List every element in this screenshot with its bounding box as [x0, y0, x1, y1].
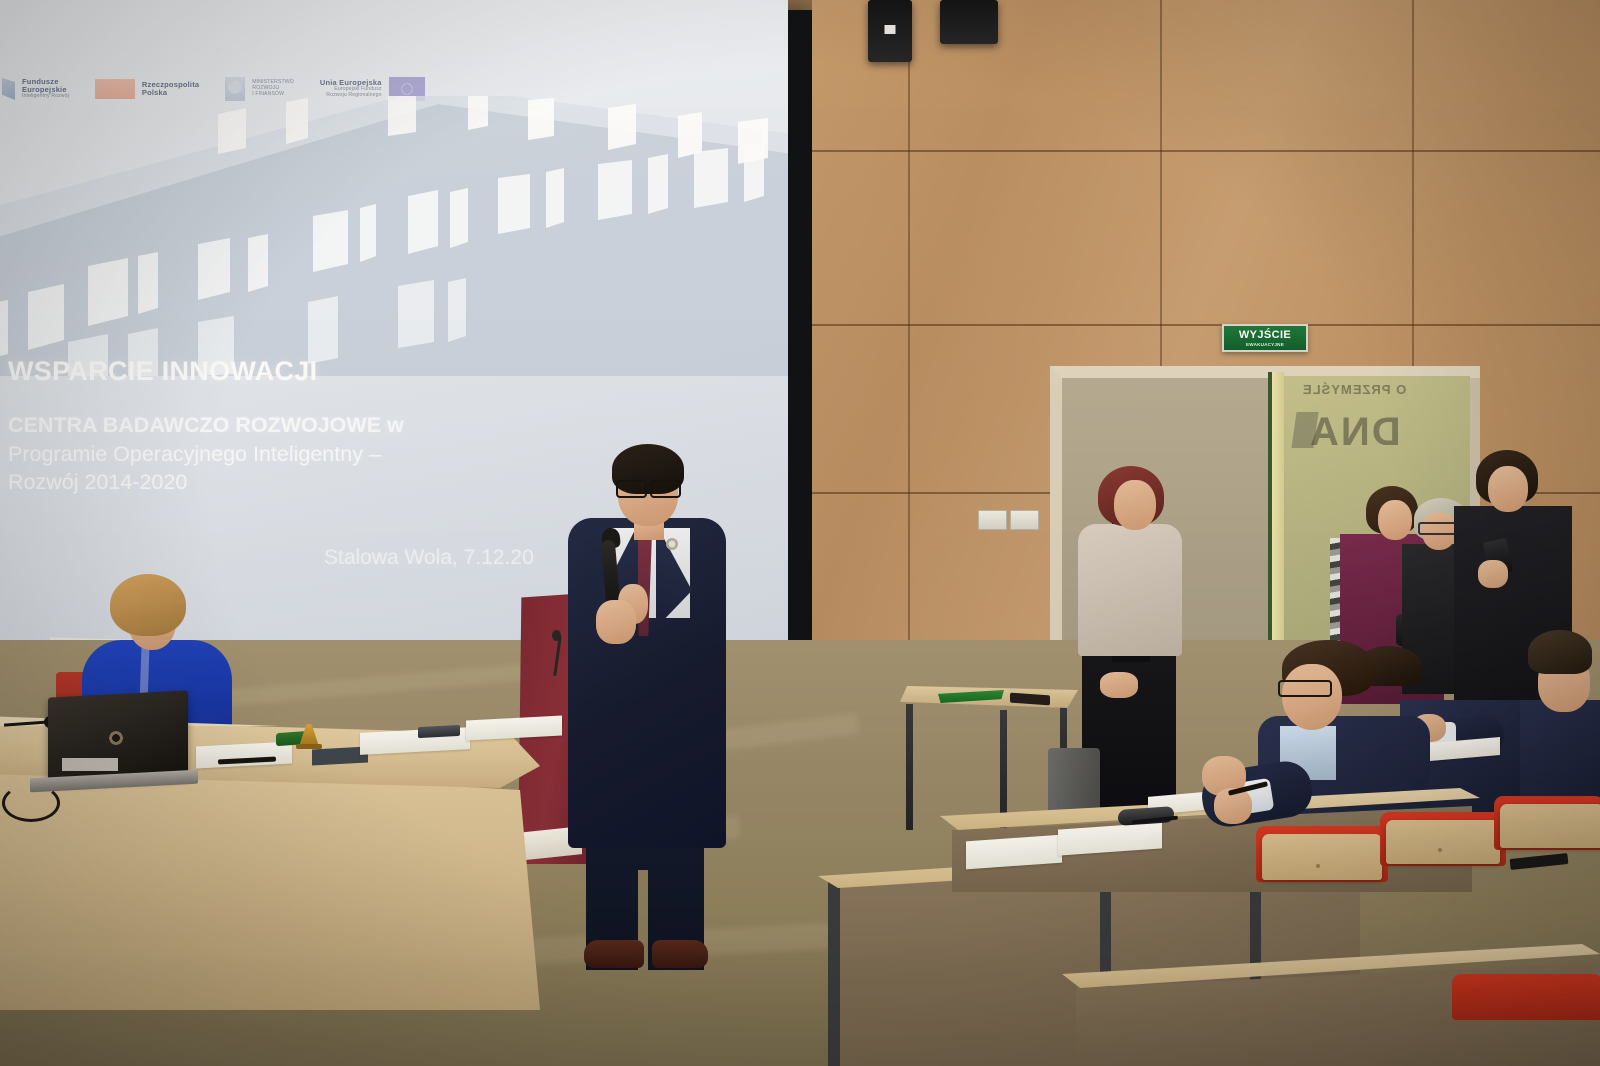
emergency-exit-sign: WYJŚCIE EWAKUACYJNE [1222, 324, 1308, 352]
standing-woman-face [1114, 480, 1156, 530]
chair-red-rim[interactable] [1452, 974, 1600, 1020]
eyeglasses-lens-left-icon [616, 480, 647, 498]
lecture-hall-photo: Fundusze Europejskie Inteligentny Rozwój… [0, 0, 1600, 1066]
chair-seatback[interactable] [1500, 804, 1600, 848]
slide-subtitle-line-1: CENTRA BADAWCZO ROZWOJOWE w [8, 411, 628, 440]
glass-door-large-text: DNA [1308, 410, 1401, 455]
front-seated-man-face [1282, 664, 1342, 730]
dell-logo-icon [108, 730, 124, 746]
slide-title: WSPARCIE INNOWACJI [8, 356, 628, 387]
standing-woman-blazer [1078, 524, 1182, 656]
chair-seatback[interactable] [1386, 820, 1500, 864]
side-table-leg-1 [906, 704, 913, 830]
slide-subtitle-line-2: Programie Operacyjnego Inteligentny – [8, 440, 628, 469]
desk-frame-left [828, 876, 842, 1066]
ceiling-speaker-right [940, 0, 998, 44]
speaker-shoe-left [584, 940, 644, 968]
chair-seatback[interactable] [1262, 834, 1382, 880]
standing-woman-hands [1100, 672, 1138, 698]
presidium-table-front [0, 760, 560, 1010]
light-switch-1[interactable] [978, 510, 1007, 530]
exit-sign-main-text: WYJŚCIE [1239, 330, 1291, 341]
lapel-pin-icon [666, 538, 678, 550]
speaker-shoe-right [652, 940, 708, 968]
eyeglasses-icon [1278, 680, 1332, 697]
door-jamb-light [1272, 372, 1284, 680]
speaker-hand-lower [596, 600, 636, 644]
light-switch-2[interactable] [1010, 510, 1039, 530]
glass-door-small-text: O PRZEMYŚLE [1302, 382, 1406, 397]
phone-attendee-hand [1478, 560, 1508, 588]
exit-sign-sub-text: EWAKUACYJNE [1246, 342, 1284, 347]
laptop-sticker [62, 758, 118, 771]
mobile-phone-on-presidium[interactable] [418, 725, 460, 738]
far-right-attendee-hair [1528, 630, 1592, 674]
speaker-brand-icon [885, 25, 896, 34]
laptop-cable [2, 784, 60, 822]
photographer-face [1378, 500, 1412, 540]
eyeglasses-lens-right-icon [650, 480, 681, 498]
lectern-microphone-head-icon [552, 630, 561, 641]
ceiling-speaker-left [868, 0, 912, 62]
presidium-woman-hair [110, 574, 186, 636]
slide-text-block: WSPARCIE INNOWACJI CENTRA BADAWCZO ROZWO… [8, 356, 628, 497]
slide-subtitle-line-3: Rozwój 2014-2020 [8, 468, 628, 497]
slide-architecture-graphic [0, 96, 788, 376]
phone-attendee-face [1488, 466, 1528, 512]
